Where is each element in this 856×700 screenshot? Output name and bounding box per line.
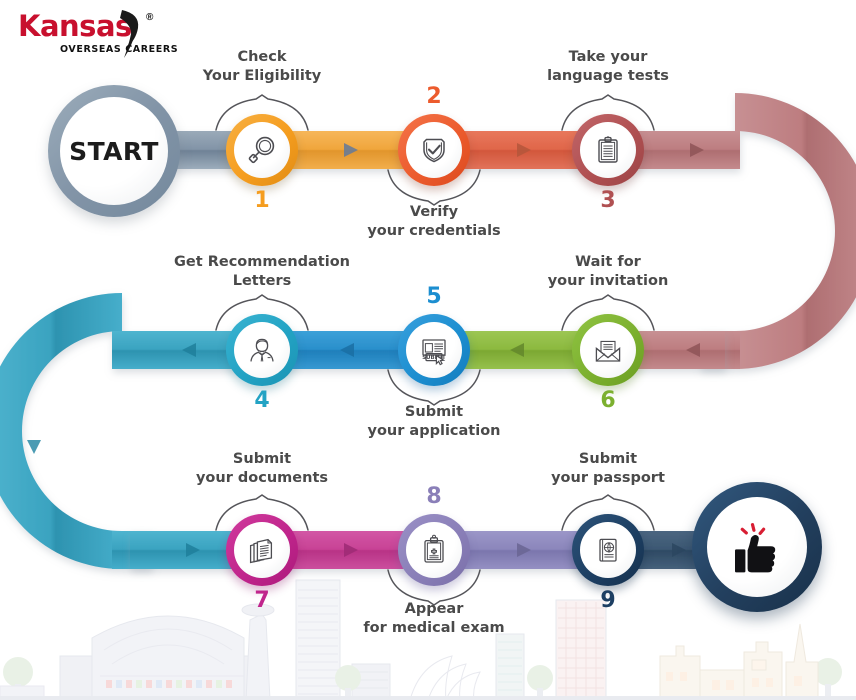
step-9-caption: Submit your passport bbox=[493, 450, 723, 488]
step-8-caption-line1: Appear bbox=[319, 600, 549, 619]
step-1-number: 1 bbox=[232, 190, 292, 212]
shield-check-icon bbox=[417, 133, 451, 167]
step-3-inner bbox=[580, 122, 636, 178]
step-3-caption-line1: Take your bbox=[493, 48, 723, 67]
step-5-caption-line1: Submit bbox=[319, 403, 549, 422]
finish-inner bbox=[707, 497, 807, 597]
step-2-node[interactable] bbox=[398, 114, 470, 186]
start-node[interactable]: START bbox=[48, 85, 180, 217]
step-1-node[interactable] bbox=[226, 114, 298, 186]
step-3-number: 3 bbox=[578, 190, 638, 212]
step-8-caption-line2: for medical exam bbox=[319, 619, 549, 638]
step-8-node[interactable] bbox=[398, 514, 470, 586]
magnifier-icon bbox=[245, 133, 279, 167]
step-7-inner bbox=[234, 522, 290, 578]
step-1-caption-line2: Your Eligibility bbox=[147, 67, 377, 86]
finish-node[interactable] bbox=[692, 482, 822, 612]
clipboard-lines-icon bbox=[591, 133, 625, 167]
step-4-inner bbox=[234, 322, 290, 378]
step-2-inner bbox=[406, 122, 462, 178]
step-3-caption-line2: language tests bbox=[493, 67, 723, 86]
step-5-inner: SUBMIT bbox=[406, 322, 462, 378]
thumbs-up-icon bbox=[726, 516, 788, 578]
step-6-number: 6 bbox=[578, 390, 638, 412]
person-tie-icon bbox=[245, 333, 279, 367]
step-6-caption-line1: Wait for bbox=[493, 253, 723, 272]
start-inner: START bbox=[60, 97, 168, 205]
step-7-caption-line2: your documents bbox=[147, 469, 377, 488]
brand-logo[interactable]: Kansas ® OVERSEAS CAREERS bbox=[18, 8, 193, 60]
step-8-caption: Appear for medical exam bbox=[319, 600, 549, 638]
infographic-canvas: START Check Your Eligibility 1 bbox=[0, 0, 856, 700]
brand-tagline: OVERSEAS CAREERS bbox=[60, 44, 178, 55]
start-label: START bbox=[69, 137, 159, 166]
step-4-node[interactable] bbox=[226, 314, 298, 386]
step-9-number: 9 bbox=[578, 590, 638, 612]
registered-mark: ® bbox=[146, 12, 153, 23]
step-9-caption-line2: your passport bbox=[493, 469, 723, 488]
step-6-caption: Wait for your invitation bbox=[493, 253, 723, 291]
medical-clipboard-icon bbox=[417, 533, 451, 567]
step-7-node[interactable] bbox=[226, 514, 298, 586]
step-4-number: 4 bbox=[232, 390, 292, 412]
brand-name: Kansas bbox=[18, 12, 132, 41]
step-7-caption: Submit your documents bbox=[147, 450, 377, 488]
step-5-caption: Submit your application bbox=[319, 403, 549, 441]
step-8-inner bbox=[406, 522, 462, 578]
step-5-node[interactable]: SUBMIT bbox=[398, 314, 470, 386]
open-envelope-icon bbox=[590, 333, 626, 367]
step-9-caption-line1: Submit bbox=[493, 450, 723, 469]
step-9-inner bbox=[580, 522, 636, 578]
step-2-caption: Verify your credentials bbox=[319, 203, 549, 241]
step-8-number: 8 bbox=[404, 486, 464, 508]
step-4-caption-line1: Get Recommendation bbox=[147, 253, 377, 272]
passport-globe-icon bbox=[591, 533, 625, 567]
step-3-node[interactable] bbox=[572, 114, 644, 186]
submit-window-icon: SUBMIT bbox=[416, 333, 452, 367]
step-6-node[interactable] bbox=[572, 314, 644, 386]
step-6-inner bbox=[580, 322, 636, 378]
step-7-caption-line1: Submit bbox=[147, 450, 377, 469]
step-6-caption-line2: your invitation bbox=[493, 272, 723, 291]
step-4-caption-line2: Letters bbox=[147, 272, 377, 291]
step-5-number: 5 bbox=[404, 286, 464, 308]
step-2-caption-line1: Verify bbox=[319, 203, 549, 222]
step-9-node[interactable] bbox=[572, 514, 644, 586]
step-3-caption: Take your language tests bbox=[493, 48, 723, 86]
documents-stack-icon bbox=[244, 533, 280, 567]
step-2-number: 2 bbox=[404, 86, 464, 108]
step-5-caption-line2: your application bbox=[319, 422, 549, 441]
step-7-number: 7 bbox=[232, 590, 292, 612]
step-1-inner bbox=[234, 122, 290, 178]
step-2-caption-line2: your credentials bbox=[319, 222, 549, 241]
step-4-caption: Get Recommendation Letters bbox=[147, 253, 377, 291]
